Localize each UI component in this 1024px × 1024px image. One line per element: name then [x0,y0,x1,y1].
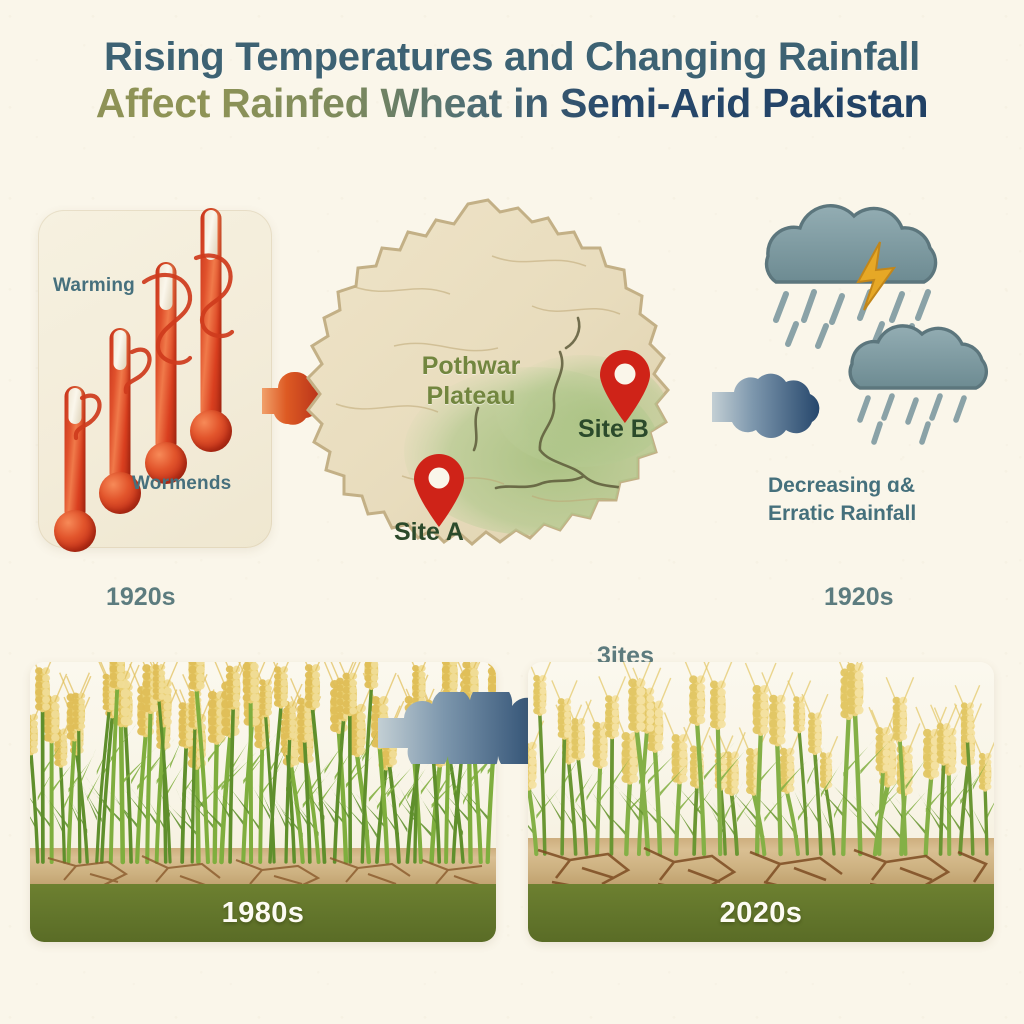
decade-band-label-2020s: 2020s [720,897,803,930]
decade-band-1980s: 1980s [30,884,496,942]
warming-trends-label: Wormends [132,473,231,495]
page-title: Rising Temperatures and Changing Rainfal… [0,34,1024,128]
storm-cloud-with-lightning [767,206,936,346]
rain-cloud [850,326,986,442]
decade-marker-right: 1920s [824,583,894,612]
wheat-panel-2020s: 2020s [528,662,994,942]
title-line-2: Affect Rainfed Wheat in Semi-Arid Pakist… [0,80,1024,128]
thermometer-4 [190,208,232,456]
rainfall-label: Decreasing ɑ& Erratic Rainfall [768,472,988,528]
decade-marker-left: 1920s [106,583,176,612]
warming-label: Warming [53,275,135,297]
site-a-pin[interactable] [410,452,468,528]
thermometer-1 [54,386,96,552]
rainfall-panel [724,198,1010,458]
pothwar-plateau-map [282,196,702,666]
thermometer-3 [145,262,187,486]
infographic-canvas: Rising Temperatures and Changing Rainfal… [0,0,1024,1024]
title-line-1: Rising Temperatures and Changing Rainfal… [0,34,1024,80]
decade-band-label-1980s: 1980s [222,897,305,930]
rainfall-label-line1: Decreasing ɑ& [768,474,915,497]
decade-band-2020s: 2020s [528,884,994,942]
site-b-pin[interactable] [596,348,654,424]
rainfall-label-line2: Erratic Rainfall [768,502,916,525]
